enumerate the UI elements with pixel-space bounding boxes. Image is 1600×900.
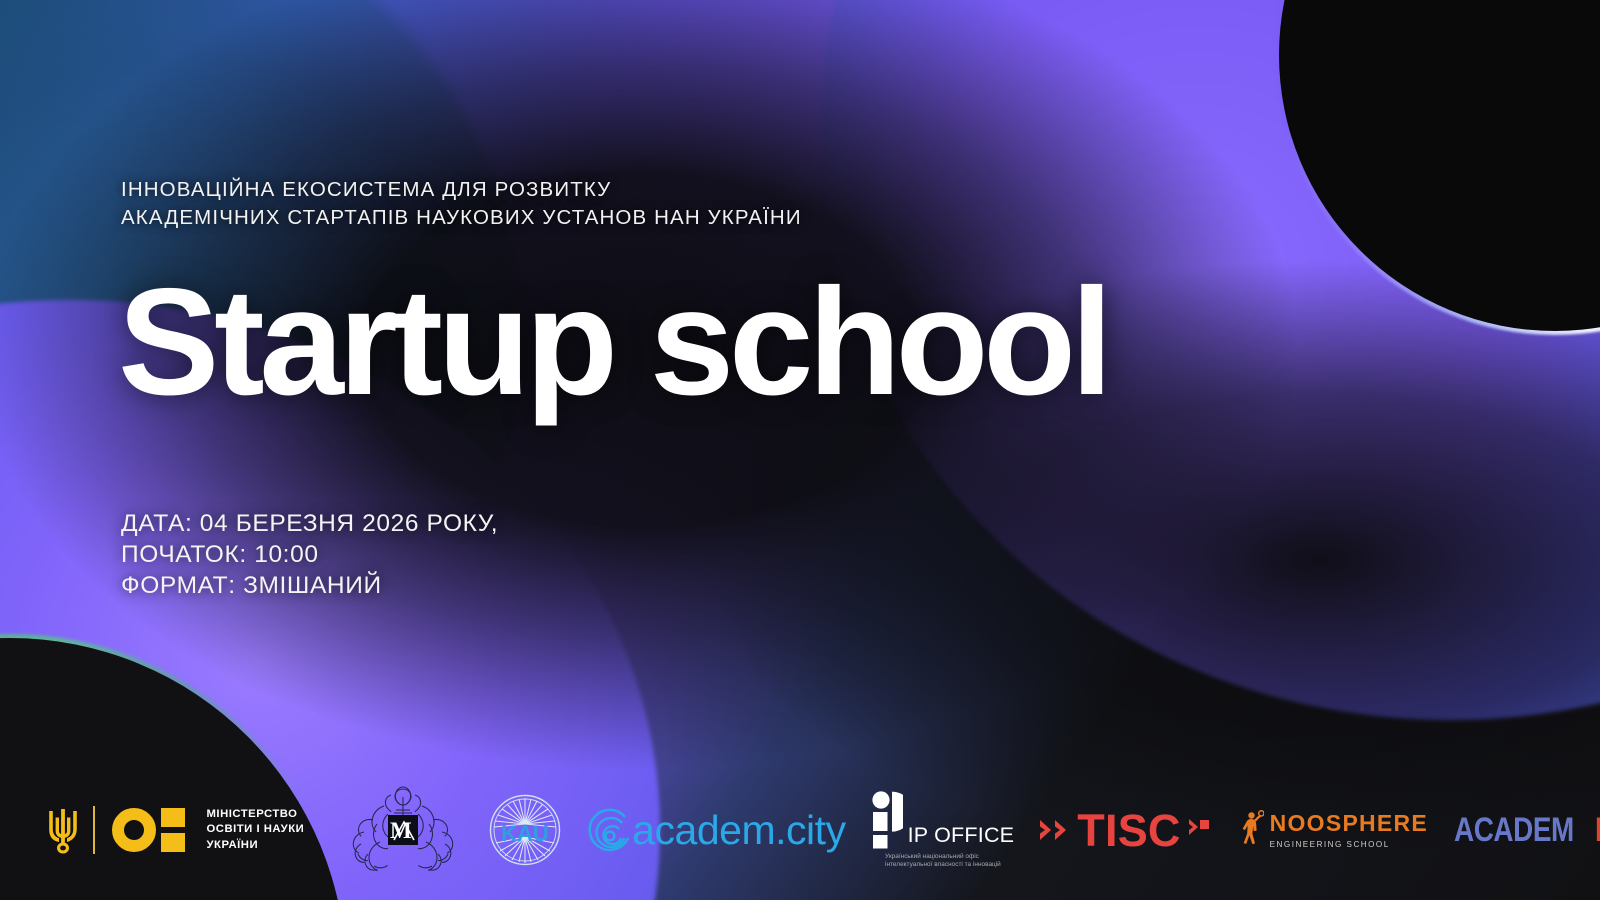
chevrons-icon [1038,815,1072,845]
logo-academ-city: academ.city [586,760,845,900]
logo-nan-ukraine: M [344,782,462,878]
partner-logo-strip: МІНІСТЕРСТВО ОСВІТИ І НАУКИ УКРАЇНИ [0,760,1600,900]
ip-office-subtitle-line-1: Український національний офіс [885,853,1001,861]
noosphere-label: NOOSPHERE [1270,812,1428,835]
ip-office-subtitle-line-2: інтелектуальної власності та інновацій [885,861,1001,869]
kau-sunburst-icon: KAU [488,793,562,867]
ministry-label-line-1: МІНІСТЕРСТВО [207,807,305,822]
eyebrow-line-2: АКАДЕМІЧНИХ СТАРТАПІВ НАУКОВИХ УСТАНОВ Н… [121,204,802,232]
logo-ministry-education-science: МІНІСТЕРСТВО ОСВІТИ І НАУКИ УКРАЇНИ [46,760,304,900]
ukraine-trident-icon [46,805,80,855]
logo-ip-office: IP OFFICE Український національний офіс … [872,760,1015,900]
noosphere-subtitle: ENGINEERING SCHOOL [1270,840,1428,849]
mon-equals-bar-top [161,808,185,827]
ip-office-glyph-icon [872,791,903,849]
ip-office-top-row: IP OFFICE [872,791,1015,849]
ministry-label: МІНІСТЕРСТВО ОСВІТИ І НАУКИ УКРАЇНИ [207,807,305,853]
page-title: Startup school [118,262,1108,422]
academ-media-label-part2: M [1595,813,1600,847]
ministry-label-line-2: ОСВІТИ І НАУКИ [207,822,305,837]
mon-equals-bar-bottom [161,833,185,852]
ip-office-subtitle: Український національний офіс інтелектуа… [885,853,1001,869]
ip-office-label: IP OFFICE [908,825,1015,849]
event-format: ФОРМАТ: ЗМІШАНИЙ [121,570,498,601]
event-start-time: ПОЧАТОК: 10:00 [121,539,498,570]
noosphere-text-block: NOOSPHERE ENGINEERING SCHOOL [1270,812,1428,849]
mon-circle-shape [112,808,156,852]
eyebrow-line-1: ІННОВАЦІЙНА ЕКОСИСТЕМА ДЛЯ РОЗВИТКУ [121,176,802,204]
logo-noosphere: NOOSPHERE ENGINEERING SCHOOL [1240,760,1428,900]
poster-eyebrow: ІННОВАЦІЙНА ЕКОСИСТЕМА ДЛЯ РОЗВИТКУ АКАД… [121,176,802,232]
noosphere-figure-icon [1240,806,1264,854]
at-circle-icon [586,805,632,855]
chevron-accent-icon [1186,815,1212,845]
mon-o-equals-mark [112,808,185,852]
mon-equals-shape [161,808,185,852]
ministry-label-line-3: УКРАЇНИ [207,838,305,853]
kau-label: KAU [501,821,549,846]
poster-canvas: ІННОВАЦІЙНА ЕКОСИСТЕМА ДЛЯ РОЗВИТКУ АКАД… [0,0,1600,900]
logo-academ-media: ACADEM M MED EDIA [1454,760,1600,900]
nan-ukraine-crest-icon: M [344,782,462,878]
logo-tisc: TISC [1038,760,1211,900]
event-date: ДАТА: 04 БЕРЕЗНЯ 2026 РОКУ, [121,508,498,539]
academ-city-label: academ.city [632,810,845,851]
logo-kau: KAU [488,793,562,867]
event-details: ДАТА: 04 БЕРЕЗНЯ 2026 РОКУ, ПОЧАТОК: 10:… [121,508,498,601]
poster-content: ІННОВАЦІЙНА ЕКОСИСТЕМА ДЛЯ РОЗВИТКУ АКАД… [0,0,1600,900]
logo-divider [93,806,95,854]
tisc-label: TISC [1077,808,1180,853]
academ-media-label-part1: ACADEM [1454,813,1574,847]
